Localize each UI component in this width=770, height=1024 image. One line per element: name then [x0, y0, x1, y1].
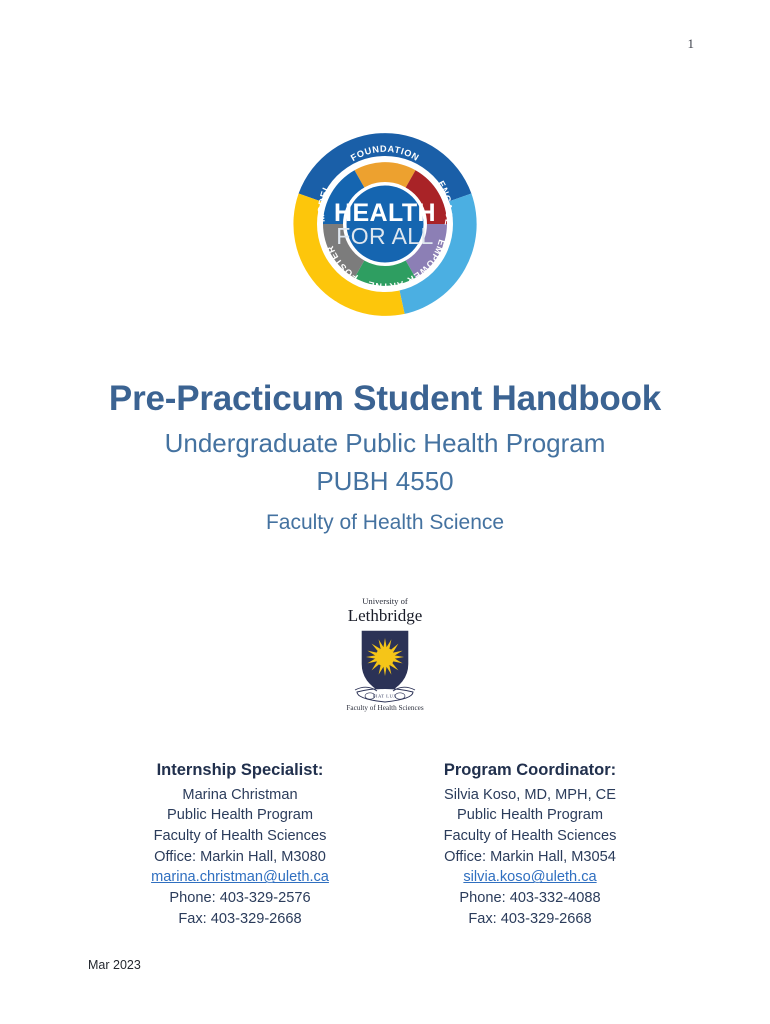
contact-heading: Internship Specialist: [95, 758, 385, 784]
logo-container: EQUITY ENGAGEMENT IMPROVEMENT FOUNDATION… [0, 88, 770, 360]
contact-email-link[interactable]: marina.christman@uleth.ca [151, 867, 329, 888]
crest-sun-icon [366, 638, 404, 676]
page-title: Pre-Practicum Student Handbook [0, 378, 770, 419]
contact-column-internship-specialist: Internship Specialist: Marina Christman … [95, 758, 385, 930]
university-of-lethbridge-crest-icon: University of Lethbridge [325, 592, 445, 717]
crest-motto-banner: FIAT LUX [355, 687, 415, 702]
contact-column-program-coordinator: Program Coordinator: Silvia Koso, MD, MP… [385, 758, 675, 930]
university-logo-container: University of Lethbridge [0, 592, 770, 717]
crest-motto-text: FIAT LUX [373, 693, 397, 698]
contact-name: Silvia Koso, MD, MPH, CE [385, 785, 675, 806]
contact-phone: Phone: 403-332-4088 [385, 888, 675, 909]
contact-office: Office: Markin Hall, M3054 [385, 847, 675, 868]
contact-phone: Phone: 403-329-2576 [95, 888, 385, 909]
subtitle-faculty: Faculty of Health Science [0, 509, 770, 536]
contact-heading: Program Coordinator: [385, 758, 675, 784]
outer-label-equity: EQUITY [350, 114, 419, 136]
contact-fax: Fax: 403-329-2668 [95, 909, 385, 930]
contact-office: Office: Markin Hall, M3080 [95, 847, 385, 868]
title-block: Pre-Practicum Student Handbook Undergrad… [0, 378, 770, 536]
contact-program: Public Health Program [95, 805, 385, 826]
contact-email-link[interactable]: silvia.koso@uleth.ca [463, 867, 596, 888]
contact-fax: Fax: 403-329-2668 [385, 909, 675, 930]
center-text-for-all: FOR ALL [336, 223, 433, 249]
health-for-all-wheel-icon: EQUITY ENGAGEMENT IMPROVEMENT FOUNDATION… [249, 88, 521, 360]
crest-university-line: University of [362, 596, 408, 606]
page-number: 1 [0, 36, 694, 52]
footer-date: Mar 2023 [88, 958, 141, 972]
contact-faculty: Faculty of Health Sciences [385, 826, 675, 847]
contact-program: Public Health Program [385, 805, 675, 826]
contact-faculty: Faculty of Health Sciences [95, 826, 385, 847]
contact-block: Internship Specialist: Marina Christman … [0, 758, 770, 930]
crest-faculty-line: Faculty of Health Sciences [346, 704, 423, 712]
contact-name: Marina Christman [95, 785, 385, 806]
subtitle-course-code: PUBH 4550 [0, 465, 770, 499]
subtitle-program: Undergraduate Public Health Program [0, 427, 770, 461]
crest-lethbridge-line: Lethbridge [348, 606, 423, 625]
